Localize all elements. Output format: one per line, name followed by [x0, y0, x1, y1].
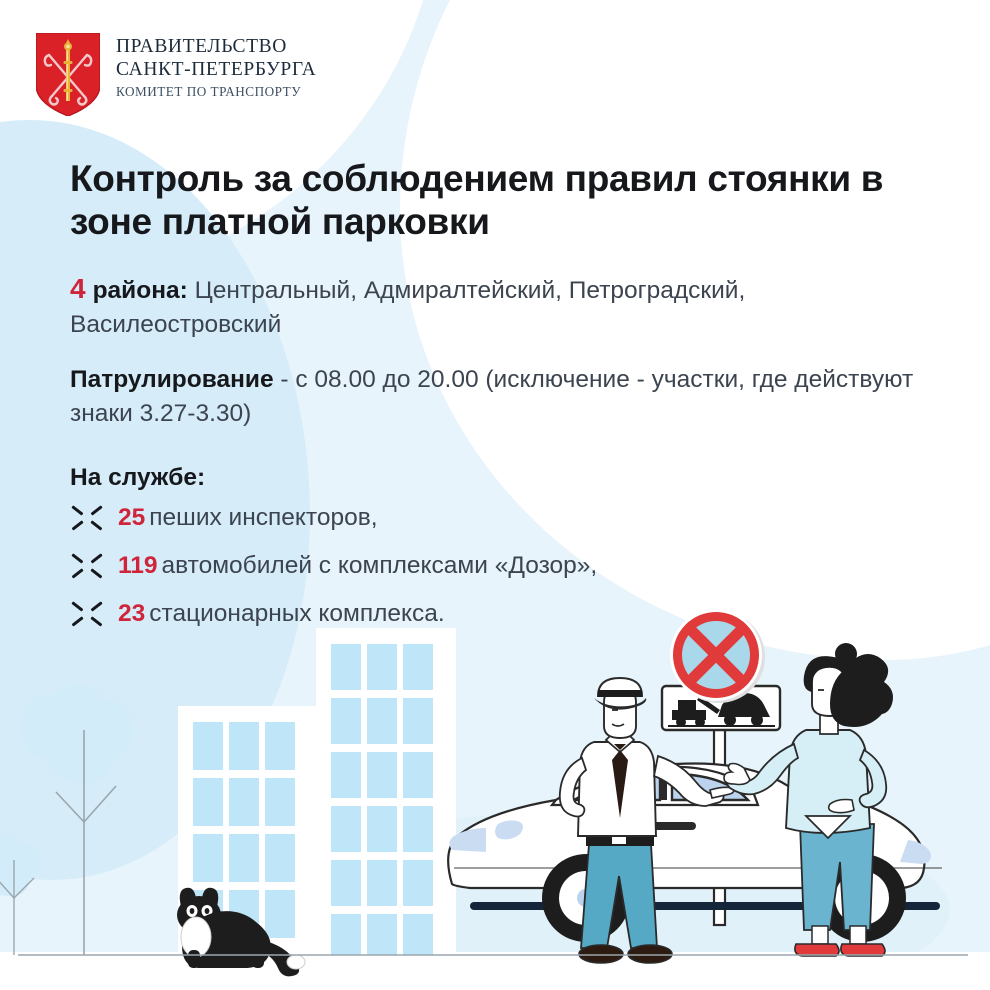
org-line-3: КОМИТЕТ ПО ТРАНСПОРТУ — [116, 83, 316, 100]
on-duty-item-text: 25пеших инспекторов, — [118, 502, 378, 534]
patrol-label: Патрулирование — [70, 366, 274, 393]
on-duty-heading: На службе: — [70, 464, 950, 492]
on-duty-item-number: 119 — [118, 552, 158, 579]
organization-name: ПРАВИТЕЛЬСТВО САНКТ-ПЕТЕРБУРГА КОМИТЕТ П… — [116, 33, 316, 100]
districts-count: 4 — [70, 273, 86, 304]
crop-marks-icon — [70, 550, 104, 582]
poster-copy: Контроль за соблюдением правил стоянки в… — [70, 158, 950, 646]
districts-line: 4района: Центральный, Адмиралтейский, Пе… — [70, 270, 950, 341]
org-line-1: ПРАВИТЕЛЬСТВО — [116, 36, 316, 59]
page-title: Контроль за соблюдением правил стоянки в… — [70, 158, 950, 244]
infographic-poster: ПРАВИТЕЛЬСТВО САНКТ-ПЕТЕРБУРГА КОМИТЕТ П… — [0, 0, 990, 990]
saint-petersburg-coat-of-arms-icon — [36, 33, 100, 116]
city-buildings-icon — [178, 628, 456, 955]
organization-header: ПРАВИТЕЛЬСТВО САНКТ-ПЕТЕРБУРГА КОМИТЕТ П… — [36, 33, 316, 116]
on-duty-item-text: 119автомобилей с комплексами «Дозор», — [118, 550, 597, 582]
on-duty-item-label: автомобилей с комплексами «Дозор», — [162, 552, 598, 579]
org-line-2: САНКТ-ПЕТЕРБУРГА — [116, 59, 316, 82]
on-duty-item-label: пеших инспекторов, — [149, 504, 377, 531]
illustration-scene — [0, 610, 990, 990]
districts-label: района: — [93, 277, 188, 304]
patrol-line: Патрулирование - с 08.00 до 20.00 (исклю… — [70, 363, 950, 430]
list-item: 119автомобилей с комплексами «Дозор», — [70, 550, 950, 582]
stylized-trees-icon — [0, 685, 133, 955]
list-item: 25пеших инспекторов, — [70, 502, 950, 534]
crop-marks-icon — [70, 502, 104, 534]
on-duty-item-number: 25 — [118, 504, 145, 531]
scene-graphic — [0, 610, 990, 990]
